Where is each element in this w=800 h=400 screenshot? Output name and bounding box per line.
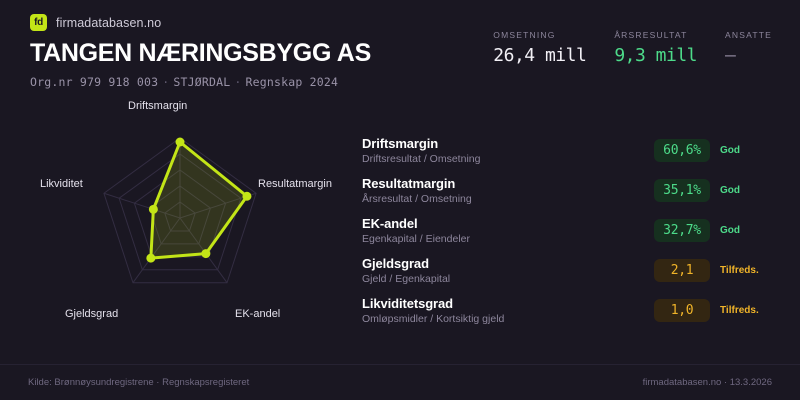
orgnr: Org.nr 979 918 003 (30, 75, 158, 89)
radar-axis-label-resultatmargin: Resultatmargin (258, 178, 332, 190)
table-row: Likviditetsgrad Omløpsmidler / Kortsikti… (362, 290, 774, 330)
kpi-ansatte-label: ANSATTE (725, 30, 772, 40)
period: Regnskap 2024 (245, 75, 338, 89)
kpi-omsetning: OMSETNING 26,4 mill (493, 30, 586, 66)
kpi-omsetning-value: 26,4 mill (493, 45, 586, 66)
radar-axis-label-gjeldsgrad: Gjeldsgrad (65, 308, 118, 320)
radar-data-point (201, 249, 210, 258)
metric-formula: Gjeld / Egenkapital (362, 273, 450, 285)
status-badge: God (720, 145, 774, 156)
brand-name: firmadatabasen.no (56, 16, 161, 30)
kpi-arsresultat-label: ÅRSRESULTAT (614, 30, 697, 40)
metric-formula: Årsresultat / Omsetning (362, 193, 472, 205)
radar-chart-svg (0, 90, 355, 340)
kpi-arsresultat-value: 9,3 mill (614, 45, 697, 66)
radar-axis-label-driftsmargin: Driftsmargin (128, 100, 187, 112)
table-row: Driftsmargin Driftsresultat / Omsetning … (362, 130, 774, 170)
city: STJØRDAL (173, 75, 230, 89)
radar-area (151, 142, 247, 258)
footer-credit: firmadatabasen.no · 13.3.2026 (643, 377, 772, 388)
radar-data-point (176, 138, 185, 147)
radar-data-point (242, 192, 251, 201)
brand[interactable]: fd firmadatabasen.no (30, 14, 371, 31)
radar-axis-label-likviditet: Likviditet (40, 178, 83, 190)
metric-name: Gjeldsgrad (362, 256, 450, 271)
status-badge: God (720, 225, 774, 236)
metric-name: EK-andel (362, 216, 470, 231)
metric-value: 1,0 (654, 299, 710, 322)
metric-formula: Egenkapital / Eiendeler (362, 233, 470, 245)
company-meta: Org.nr 979 918 003·STJØRDAL·Regnskap 202… (30, 75, 371, 89)
firmadatabasen-logo-icon: fd (30, 14, 47, 31)
footer: Kilde: Brønnøysundregistrene · Regnskaps… (0, 364, 800, 400)
kpi-ansatte-value: – (725, 45, 772, 66)
meta-separator-1: · (158, 75, 173, 89)
status-badge: God (720, 185, 774, 196)
metric-formula: Omløpsmidler / Kortsiktig gjeld (362, 313, 504, 325)
metric-value: 35,1% (654, 179, 710, 202)
metric-name: Driftsmargin (362, 136, 480, 151)
report-card: fd firmadatabasen.no TANGEN NÆRINGSBYGG … (0, 0, 800, 400)
status-badge: Tilfreds. (720, 265, 774, 276)
metric-name: Likviditetsgrad (362, 296, 504, 311)
metric-value: 2,1 (654, 259, 710, 282)
table-row: Resultatmargin Årsresultat / Omsetning 3… (362, 170, 774, 210)
kpi-omsetning-label: OMSETNING (493, 30, 586, 40)
metrics-list: Driftsmargin Driftsresultat / Omsetning … (362, 130, 774, 330)
radar-data-point (149, 205, 158, 214)
meta-separator-2: · (230, 75, 245, 89)
metric-value: 32,7% (654, 219, 710, 242)
status-badge: Tilfreds. (720, 305, 774, 316)
header: fd firmadatabasen.no TANGEN NÆRINGSBYGG … (30, 14, 371, 89)
radar-data-point (146, 254, 155, 263)
table-row: Gjeldsgrad Gjeld / Egenkapital 2,1 Tilfr… (362, 250, 774, 290)
kpi-strip: OMSETNING 26,4 mill ÅRSRESULTAT 9,3 mill… (493, 30, 772, 66)
kpi-arsresultat: ÅRSRESULTAT 9,3 mill (614, 30, 697, 66)
page-title: TANGEN NÆRINGSBYGG AS (30, 40, 371, 66)
radar-chart: Driftsmargin Resultatmargin EK-andel Gje… (0, 90, 355, 340)
metric-formula: Driftsresultat / Omsetning (362, 153, 480, 165)
kpi-ansatte: ANSATTE – (725, 30, 772, 66)
table-row: EK-andel Egenkapital / Eiendeler 32,7% G… (362, 210, 774, 250)
radar-axis-label-ek-andel: EK-andel (235, 308, 280, 320)
metric-value: 60,6% (654, 139, 710, 162)
footer-source: Kilde: Brønnøysundregistrene · Regnskaps… (28, 377, 249, 388)
metric-name: Resultatmargin (362, 176, 472, 191)
